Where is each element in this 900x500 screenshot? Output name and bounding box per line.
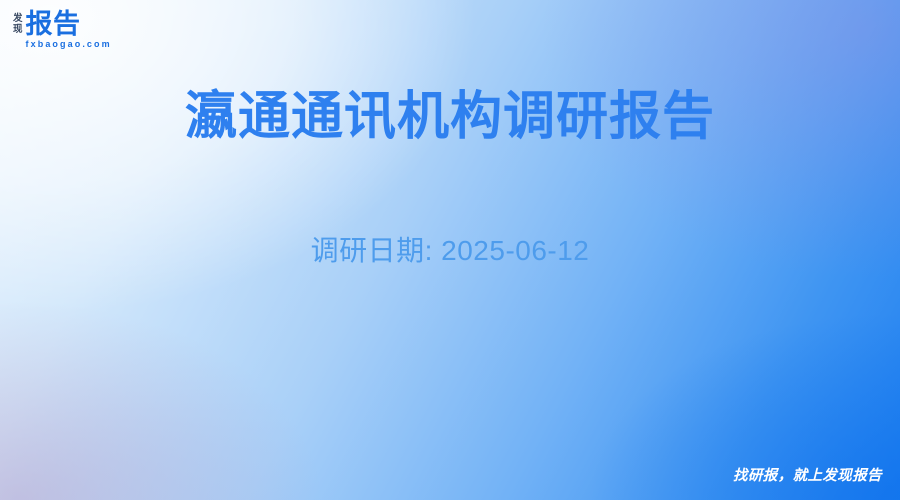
page-title: 瀛通通讯机构调研报告 (0, 86, 900, 148)
logo-mark-line-2: 现 (13, 24, 23, 35)
survey-date: 调研日期: 2025-06-12 (0, 232, 900, 270)
brand-tagline: 找研报，就上发现报告 (733, 466, 882, 486)
logo-wordmark: 报告 (26, 10, 112, 38)
logo-domain: fxbaogao.com (26, 39, 112, 50)
logo-mark-line-1: 发 (13, 13, 23, 24)
logo-mark-characters: 发 现 (13, 10, 23, 35)
logo-text-block: 报告 fxbaogao.com (26, 10, 112, 50)
brand-logo[interactable]: 发 现 报告 fxbaogao.com (13, 10, 112, 50)
report-cover: 发 现 报告 fxbaogao.com 瀛通通讯机构调研报告 调研日期: 202… (0, 0, 900, 500)
